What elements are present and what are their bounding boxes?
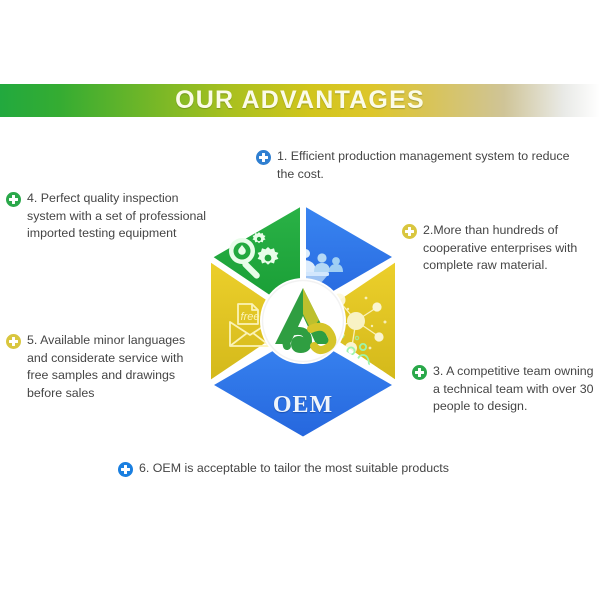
svg-text:free: free (241, 311, 260, 323)
page-title: OUR ADVANTAGES (0, 84, 600, 117)
plus-circle-icon (6, 192, 21, 207)
advantage-number-1: 1. (277, 149, 287, 163)
advantage-body-2: More than hundreds of cooperative enterp… (423, 223, 577, 272)
advantage-body-5: Available minor languages and considerat… (27, 333, 185, 400)
advantage-item-1: 1. Efficient production management syste… (256, 148, 586, 183)
advantage-item-6: 6. OEM is acceptable to tailor the most … (118, 460, 468, 478)
advantage-text-3: 3. A competitive team owning a technical… (433, 363, 598, 416)
advantage-number-5: 5. (27, 333, 37, 347)
slide-canvas: OUR ADVANTAGES 1. Efficient production m… (0, 0, 600, 600)
advantage-text-2: 2.More than hundreds of cooperative ente… (423, 222, 598, 275)
plus-circle-icon (6, 334, 21, 349)
center-logo-badge (260, 278, 346, 364)
advantage-item-5: 5. Available minor languages and conside… (6, 332, 196, 402)
plus-circle-icon (256, 150, 271, 165)
plus-circle-icon (118, 462, 133, 477)
advantage-item-3: 3. A competitive team owning a technical… (412, 363, 598, 416)
advantage-text-1: 1. Efficient production management syste… (277, 148, 586, 183)
advantage-number-4: 4. (27, 191, 37, 205)
advantage-number-3: 3. (433, 364, 443, 378)
advantage-body-3: A competitive team owning a technical te… (433, 364, 594, 413)
advantage-body-1: Efficient production management system t… (277, 149, 570, 181)
advantage-number-6: 6. (139, 461, 149, 475)
advantage-body-6: OEM is acceptable to tailor the most sui… (153, 461, 449, 475)
advantage-text-6: 6. OEM is acceptable to tailor the most … (139, 460, 449, 478)
hexagon-diagram: free (180, 196, 426, 446)
advantage-item-2: 2.More than hundreds of cooperative ente… (402, 222, 598, 275)
advantage-text-5: 5. Available minor languages and conside… (27, 332, 196, 402)
